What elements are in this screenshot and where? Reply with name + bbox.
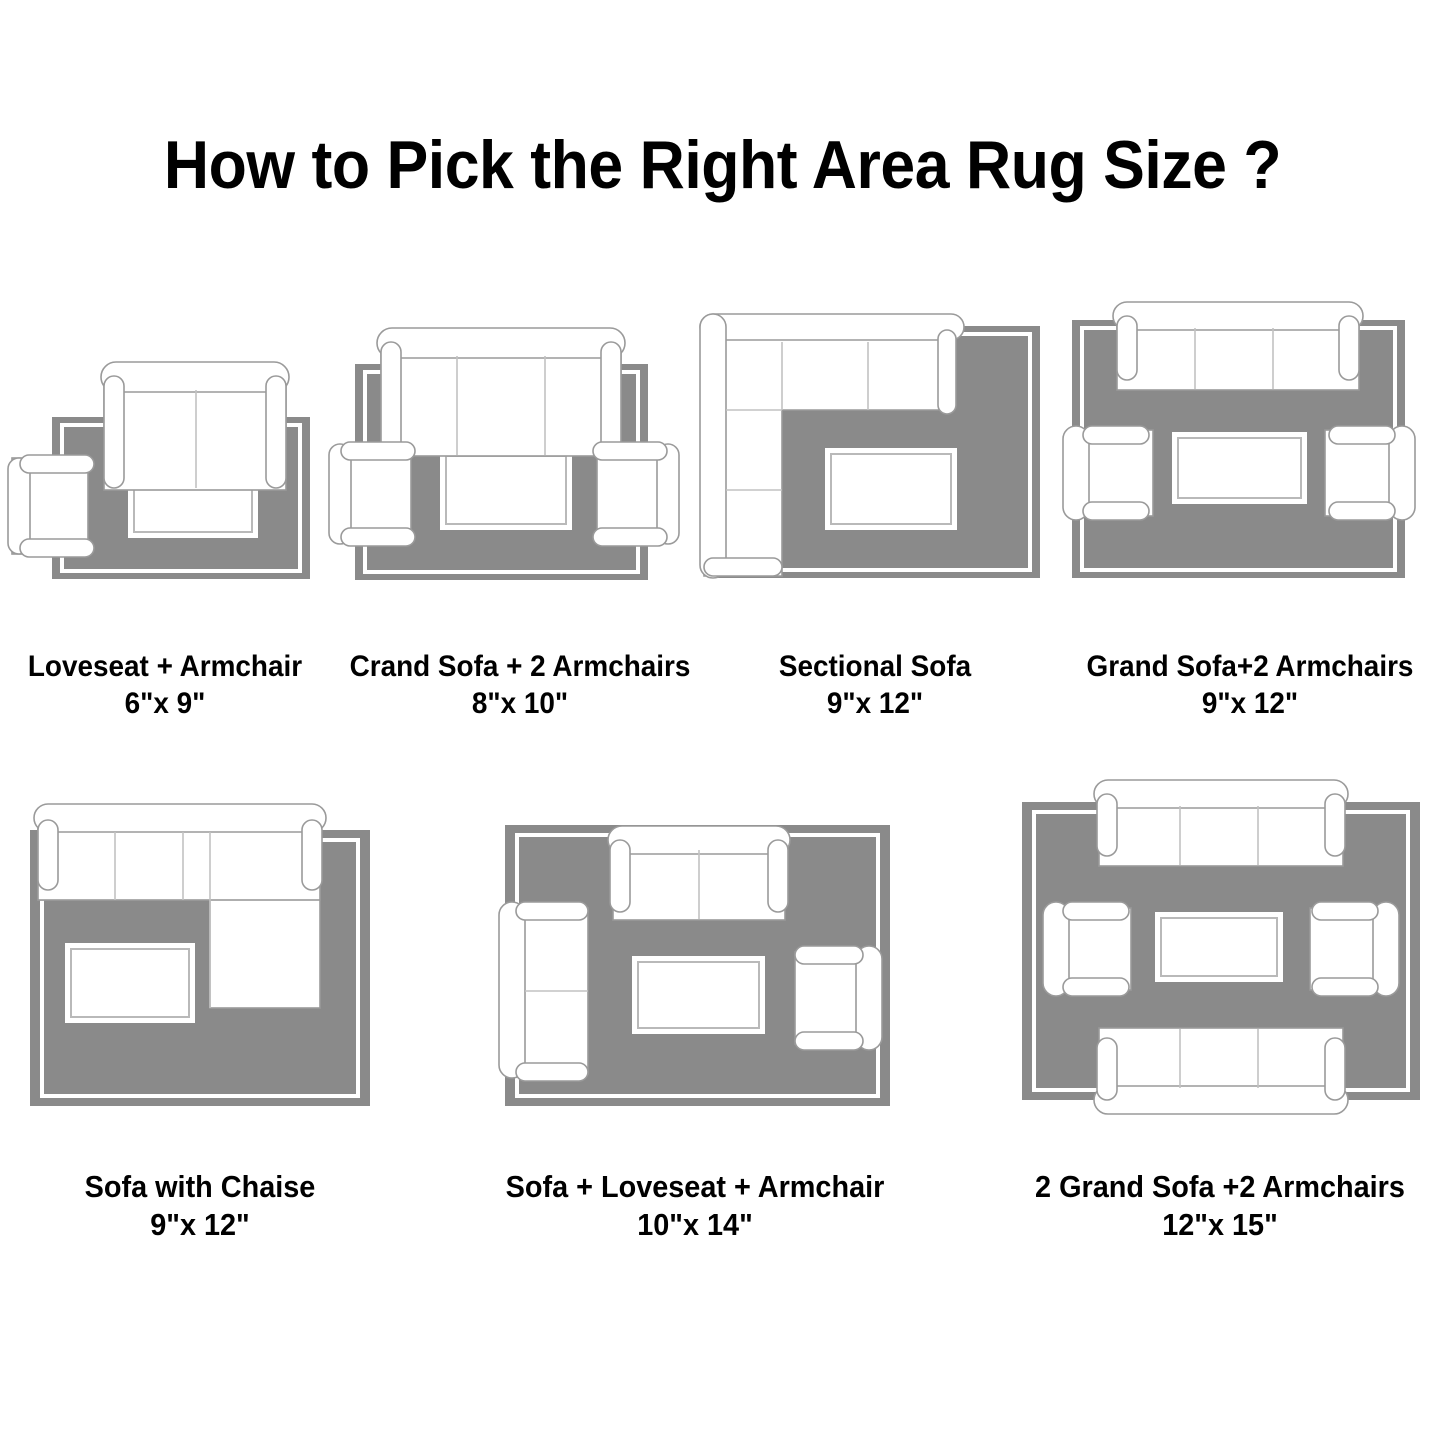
caption-sofa-with-chaise: Sofa with Chaise 9"x 12" [0, 1168, 400, 1245]
caption-size: 10"x 14" [486, 1206, 905, 1244]
caption-size: 12"x 15" [1011, 1206, 1430, 1244]
loveseat [101, 362, 289, 490]
loveseat-left [499, 902, 588, 1081]
caption-name: Crand Sofa + 2 Armchairs [334, 648, 706, 685]
sofa-loveseat-armchair-svg [470, 780, 920, 1120]
grand-sofa-bottom [1094, 1028, 1348, 1114]
sectional-sofa-svg [690, 290, 1060, 590]
caption-name: Sectional Sofa [703, 648, 1047, 685]
caption-loveseat-armchair: Loveseat + Armchair 6"x 9" [0, 648, 340, 722]
coffee-table [632, 956, 765, 1034]
coffee-table [65, 943, 195, 1023]
caption-name: Sofa + Loveseat + Armchair [486, 1168, 905, 1206]
page-title: How to Pick the Right Area Rug Size ? [58, 126, 1387, 204]
layout-diagram-sofa-with-chaise: Sofa with Chaise 9"x 12" [0, 780, 400, 1120]
layout-diagram-two-grand-sofa-2-armchairs: 2 Grand Sofa +2 Armchairs 12"x 15" [995, 770, 1445, 1120]
caption-name: Sofa with Chaise [14, 1168, 386, 1206]
armchair-left [8, 455, 94, 557]
caption-sofa-loveseat-armchair: Sofa + Loveseat + Armchair 10"x 14" [470, 1168, 920, 1245]
layout-diagram-sofa-loveseat-armchair: Sofa + Loveseat + Armchair 10"x 14" [470, 780, 920, 1120]
caption-size: 9"x 12" [14, 1206, 386, 1244]
grand-sofa-top [1094, 780, 1348, 866]
caption-two-grand-sofa-2-armchairs: 2 Grand Sofa +2 Armchairs 12"x 15" [995, 1168, 1445, 1245]
caption-size: 8"x 10" [334, 685, 706, 722]
infographic-page: How to Pick the Right Area Rug Size ? [0, 0, 1445, 1445]
armchair-left [1043, 902, 1131, 996]
coffee-table [825, 448, 957, 530]
coffee-table [1155, 912, 1283, 982]
caption-grand-sofa-2-armchairs: Grand Sofa+2 Armchairs 9"x 12" [1050, 648, 1445, 722]
grand-sofa-2-armchairs-svg [1055, 290, 1445, 590]
layout-diagram-crand-sofa-2-armchairs: Crand Sofa + 2 Armchairs 8"x 10" [325, 290, 715, 590]
caption-sectional-sofa: Sectional Sofa 9"x 12" [690, 648, 1060, 722]
grand-sofa [1113, 302, 1363, 390]
coffee-table [440, 450, 572, 530]
caption-name: Grand Sofa+2 Armchairs [1064, 648, 1436, 685]
layout-diagram-grand-sofa-2-armchairs: Grand Sofa+2 Armchairs 9"x 12" [1055, 290, 1445, 590]
loveseat-armchair-svg [0, 290, 330, 590]
caption-name: 2 Grand Sofa +2 Armchairs [1011, 1168, 1430, 1206]
grand-sofa [377, 328, 625, 456]
caption-size: 9"x 12" [703, 685, 1047, 722]
armchair-right [795, 946, 882, 1050]
armchair-left [1063, 426, 1153, 520]
coffee-table [1172, 432, 1307, 504]
armchair-right [593, 442, 679, 546]
armchair-right [1325, 426, 1415, 520]
armchair-right [1310, 902, 1399, 996]
caption-name: Loveseat + Armchair [2, 648, 328, 685]
layout-diagram-sectional-sofa: Sectional Sofa 9"x 12" [690, 290, 1060, 590]
caption-crand-sofa-2-armchairs: Crand Sofa + 2 Armchairs 8"x 10" [320, 648, 720, 722]
caption-size: 9"x 12" [1064, 685, 1436, 722]
two-grand-sofa-2-armchairs-svg [995, 770, 1445, 1120]
sofa-top [608, 826, 790, 920]
layout-diagram-loveseat-armchair: Loveseat + Armchair 6"x 9" [0, 290, 330, 590]
sofa-with-chaise-svg [0, 780, 400, 1120]
armchair-left [329, 442, 415, 546]
crand-sofa-2-armchairs-svg [325, 290, 715, 590]
caption-size: 6"x 9" [2, 685, 328, 722]
